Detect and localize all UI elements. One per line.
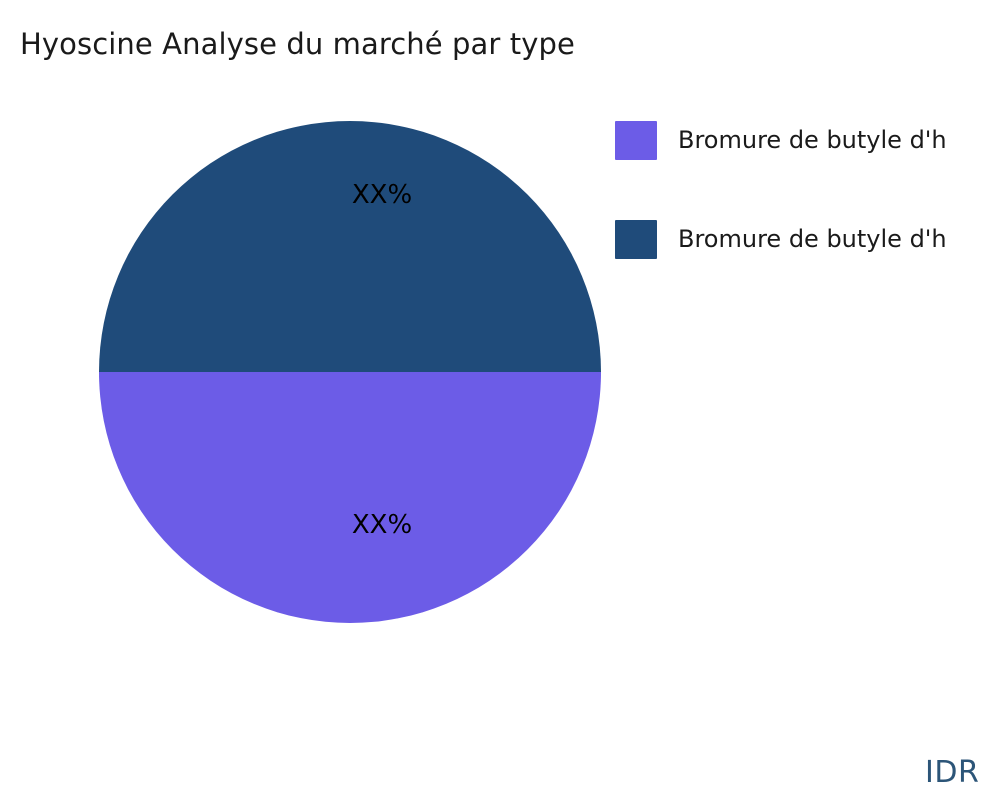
pie-slice-bromure-purple[interactable]: [99, 372, 601, 623]
pie-chart-svg: [99, 121, 601, 623]
legend-item-label: Bromure de butyle d'h: [678, 220, 947, 259]
pie-slice-label-bottom: XX%: [352, 512, 412, 538]
legend-swatch-purple-icon: [615, 121, 657, 160]
watermark-logo: IDR: [925, 755, 979, 790]
pie-slice-label-top: XX%: [352, 182, 412, 208]
legend-item-0[interactable]: Bromure de butyle d'h: [615, 121, 1000, 220]
legend-item-label: Bromure de butyle d'h: [678, 121, 947, 160]
pie-slice-bromure-darkblue[interactable]: [99, 121, 601, 372]
pie-chart: XX% XX%: [99, 121, 601, 623]
legend-item-1[interactable]: Bromure de butyle d'h: [615, 220, 1000, 319]
chart-legend: Bromure de butyle d'h Bromure de butyle …: [615, 121, 1000, 319]
legend-swatch-darkblue-icon: [615, 220, 657, 259]
page-title: Hyoscine Analyse du marché par type: [20, 26, 575, 62]
